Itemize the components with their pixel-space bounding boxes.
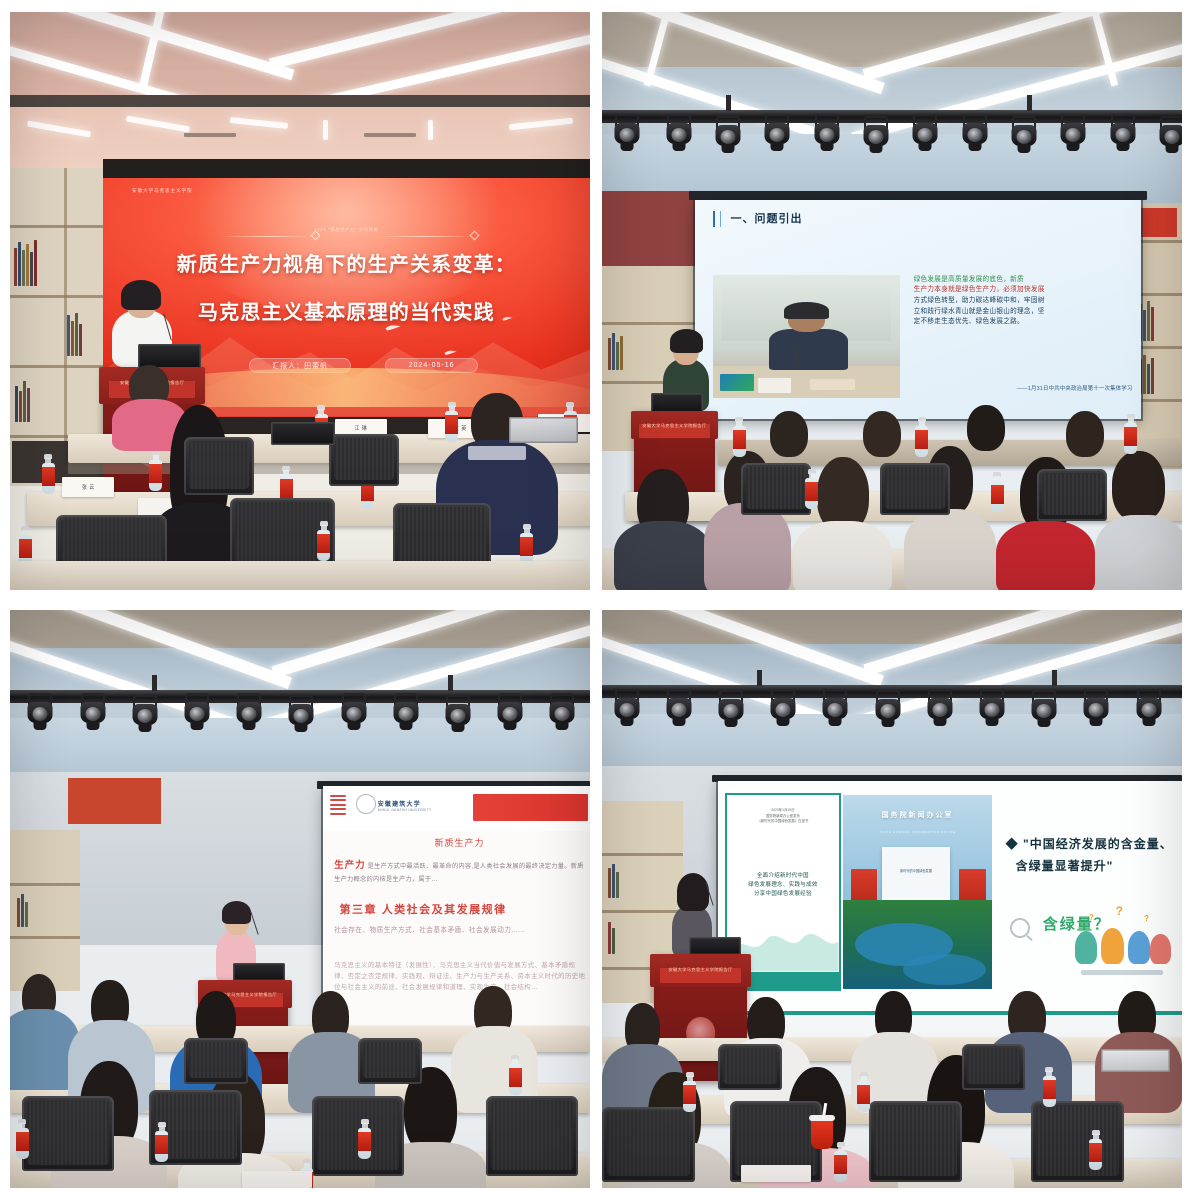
podium-laptop <box>689 937 741 955</box>
ceiling-top-right <box>602 12 1182 209</box>
photo-collage: 安徽大学马克思主义学院 2024 "新质生产力" 系列讲座 新质生产力视角下的生… <box>0 0 1192 1192</box>
attendee-body <box>793 521 892 590</box>
slide-title-line1: 新质生产力视角下的生产关系变革： <box>103 252 590 278</box>
attendee-head <box>770 411 808 457</box>
chair <box>184 1038 248 1084</box>
slide-para2: 社会存在、物质生产方式、社会基本矛盾、社会发展动力…… <box>334 925 588 936</box>
slide-decor-bars <box>330 795 346 815</box>
photo-book-title: 新时代的中国绿色发展 <box>882 868 950 873</box>
dove-icon <box>502 315 513 322</box>
chair <box>962 1044 1026 1090</box>
photo-banner-sub: STATE COUNCIL INFORMATION OFFICE <box>843 830 991 834</box>
slide-body-run2: 生产力本身就是绿色生产力，必须加快发展 <box>914 285 1133 296</box>
slide-chapter-heading: 第三章 人类社会及其发展规律 <box>340 901 507 917</box>
panel-top-right: 一、问题引出 绿色发展是高质量发展的底色，新质 生产力本身就是绿色生产力，必须加… <box>602 12 1182 590</box>
slide-event: 2024 "新质生产力" 系列讲座 <box>103 227 590 233</box>
attendee-laptop <box>509 417 579 443</box>
coffee-cup <box>811 1119 833 1149</box>
slide-bullet: ◆ "中国经济发展的含金量、 含绿量显著提升" <box>1006 833 1182 877</box>
university-seal <box>356 794 376 814</box>
bookshelf-right <box>1136 203 1182 469</box>
dove-icon <box>385 324 401 331</box>
chair <box>718 1044 782 1090</box>
podium-text: 安徽大学马克思主义学院报告厅 <box>660 968 742 972</box>
chair <box>486 1096 579 1177</box>
university-name-en: ANHUI JIANZHU UNIVERSITY <box>378 808 432 812</box>
panel-bottom-right: 2023年1月19日 国务院新闻办公室发布 《新时代的中国绿色发展》白皮书 全面… <box>602 610 1182 1188</box>
chair <box>1037 469 1107 521</box>
chair <box>602 1107 695 1182</box>
chair <box>184 437 254 495</box>
chair <box>358 1038 422 1084</box>
attendee-laptop <box>1101 1049 1171 1072</box>
chair <box>22 1096 115 1171</box>
whitepaper-photo: 国务院新闻办公室 STATE COUNCIL INFORMATION OFFIC… <box>843 795 991 989</box>
panel-bottom-left: 安徽建筑大学 ANHUI JIANZHU UNIVERSITY 新质生产力 生产… <box>10 610 590 1188</box>
whitepaper-meta: 2023年1月19日 国务院新闻办公室发布 《新时代的中国绿色发展》白皮书 <box>736 808 830 824</box>
discussion-illustration: ? ? ? <box>1071 908 1173 979</box>
chair <box>1031 1101 1124 1182</box>
chair <box>880 463 950 515</box>
attendee-head <box>1112 451 1164 520</box>
slide-bullet-line2: 含绿量显著提升" <box>1006 855 1182 877</box>
university-name: 安徽建筑大学 ANHUI JIANZHU UNIVERSITY <box>378 799 432 812</box>
attendee-body <box>704 503 791 590</box>
projection-screen: 2023年1月19日 国务院新闻办公室发布 《新时代的中国绿色发展》白皮书 全面… <box>718 781 1182 1018</box>
slide-para3: 马克思主义的基本特征（发展性）、马克思主义当代价值与发展方式、基本矛盾规律、否定… <box>334 960 588 993</box>
attendee-body <box>1095 515 1182 590</box>
slide-heading: 一、问题引出 <box>731 210 803 226</box>
slide-para1-lead: 生产力 <box>334 860 366 871</box>
slide-subtitle: 新质生产力 <box>323 836 590 849</box>
attendee-head <box>863 411 901 457</box>
dove-icon <box>444 349 457 356</box>
slide-bullet-line1: ◆ "中国经济发展的含金量、 <box>1006 833 1182 855</box>
slide-organizer: 安徽大学马克思主义学院 <box>132 188 192 194</box>
podium-nameplate: 安徽大学马克思主义学院报告厅 <box>660 968 742 983</box>
panel-top-left: 安徽大学马克思主义学院 2024 "新质生产力" 系列讲座 新质生产力视角下的生… <box>10 12 590 590</box>
chair <box>869 1101 962 1182</box>
photo-banner: 国务院新闻办公室 <box>843 810 991 820</box>
chair <box>329 434 399 486</box>
front-row-desk <box>10 561 590 590</box>
bookshelf-left <box>10 830 80 992</box>
slide-photo <box>713 275 901 398</box>
ceiling-bottom-left <box>10 610 590 783</box>
ceiling-bottom-right <box>602 610 1182 778</box>
slide-body-run3: 方式绿色转型，助力碳达峰碳中和，牢固树 <box>914 296 1133 307</box>
attendee-body <box>996 521 1095 590</box>
attendee-head <box>1066 411 1104 457</box>
attendee-laptop <box>271 422 335 445</box>
slide-body-run1: 绿色发展是高质量发展的底色，新质 <box>914 276 1024 283</box>
attendee-body <box>904 509 997 590</box>
slide-body: 绿色发展是高质量发展的底色，新质 生产力本身就是绿色生产力，必须加快发展 方式绿… <box>914 275 1133 328</box>
attendee-head <box>967 405 1005 451</box>
podium-nameplate: 安徽大学马克思主义学院报告厅 <box>639 424 710 438</box>
slide-source: ——1月31日中共中央政治局第十一次集体学习 <box>1017 384 1133 392</box>
projection-screen: 安徽建筑大学 ANHUI JIANZHU UNIVERSITY 新质生产力 生产… <box>323 786 590 1035</box>
podium-laptop <box>233 963 285 981</box>
magnifier-icon <box>1010 918 1030 938</box>
photo-book: 新时代的中国绿色发展 <box>882 847 950 905</box>
projection-screen: 一、问题引出 绿色发展是高质量发展的底色，新质 生产力本身就是绿色生产力，必须加… <box>695 200 1142 420</box>
attendee-body <box>614 521 713 590</box>
slide-body-run4: 立和践行绿水青山就是金山银山的理念，坚 <box>914 307 1133 318</box>
slide-body-run5: 定不移走生态优先、绿色发展之路。 <box>914 317 1133 328</box>
name-card: 张 云 <box>62 477 114 497</box>
slide-header-accent <box>473 794 587 821</box>
whitepaper-title: 全面介绍新时代中国 绿色发展理念、实践与成效 分享中国绿色发展经验 <box>734 872 832 898</box>
slide-para1: 生产力 是生产方式中最活跃、最革命的内容,是人类社会发展的最终决定力量。新质生产… <box>334 858 588 885</box>
photo-logo <box>720 374 754 391</box>
podium-text: 安徽大学马克思主义学院报告厅 <box>639 424 710 428</box>
chair <box>741 463 811 515</box>
